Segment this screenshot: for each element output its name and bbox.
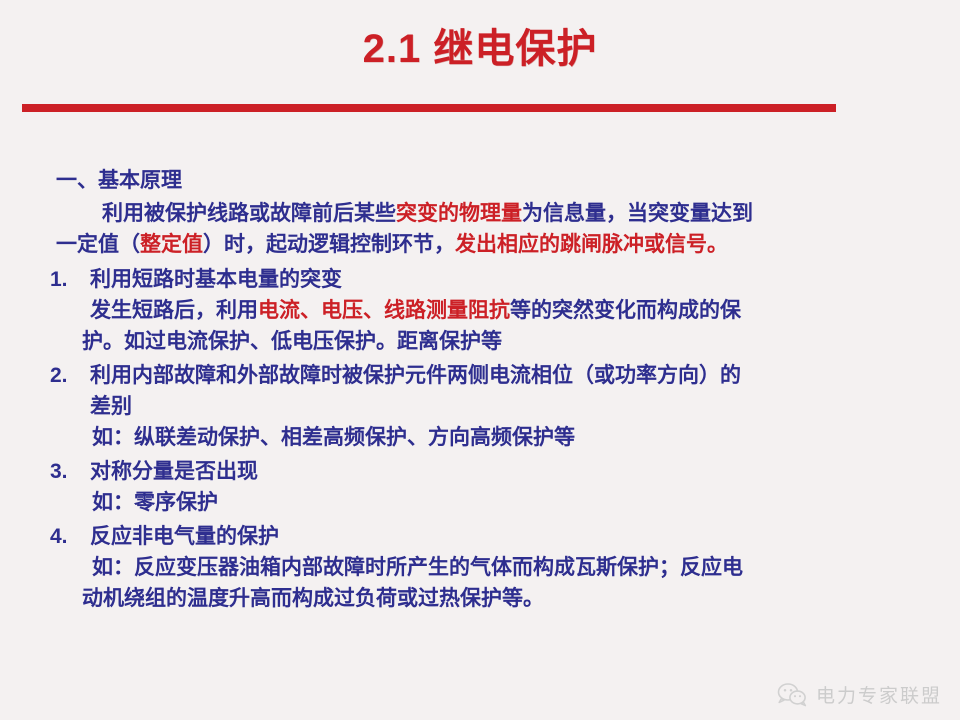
item1-detail-text-a: 发生短路后，利用 (90, 299, 258, 322)
item1-detail-highlight: 电流、电压、线路测量阻抗 (258, 299, 510, 322)
list-item-detail-line-2: 护。如过电流保护、低电压保护。距离保护等 (82, 326, 960, 357)
list-item-example-line-1: 如：反应变压器油箱内部故障时所产生的气体而构成瓦斯保护；反应电 (92, 552, 960, 583)
list-item-title: 利用短路时基本电量的突变 (90, 264, 960, 295)
list-item-title: 反应非电气量的保护 (90, 521, 960, 552)
page-title: 2.1 继电保护 (363, 24, 598, 74)
list-item-number: 3. (50, 456, 84, 487)
intro-line-2: 一定值（整定值）时，起动逻辑控制环节，发出相应的跳闸脉冲或信号。 (56, 229, 960, 260)
list-item-number: 2. (50, 360, 84, 391)
list-item: 2. 利用内部故障和外部故障时被保护元件两侧电流相位（或功率方向）的 差别 如：… (0, 360, 960, 453)
list-item-example: 如：纵联差动保护、相差高频保护、方向高频保护等 (92, 422, 960, 453)
intro-line2-text-b: ）时，起动逻辑控制环节， (203, 233, 455, 256)
list-item-example: 如：零序保护 (92, 487, 960, 518)
wechat-icon (777, 682, 807, 708)
intro-line2-highlight-2: 发出相应的跳闸脉冲或信号。 (455, 233, 728, 256)
slide-body: 一、基本原理 利用被保护线路或故障前后某些突变的物理量为信息量，当突变量达到 一… (0, 166, 960, 614)
list-item-example-line-2: 动机绕组的温度升高而构成过负荷或过热保护等。 (82, 583, 960, 614)
watermark: 电力专家联盟 (777, 681, 942, 708)
list-item-detail-line-1: 发生短路后，利用电流、电压、线路测量阻抗等的突然变化而构成的保 (90, 295, 960, 326)
intro-line1-highlight: 突变的物理量 (396, 202, 522, 225)
intro-line1-text-b: 为信息量，当突变量达到 (522, 202, 753, 225)
intro-line1-text-a: 利用被保护线路或故障前后某些 (102, 202, 396, 225)
list-item-title: 对称分量是否出现 (90, 456, 960, 487)
numbered-list: 1. 利用短路时基本电量的突变 发生短路后，利用电流、电压、线路测量阻抗等的突然… (0, 264, 960, 614)
section-heading: 一、基本原理 (56, 166, 960, 196)
list-item-title-line-2: 差别 (90, 391, 960, 422)
list-item: 1. 利用短路时基本电量的突变 发生短路后，利用电流、电压、线路测量阻抗等的突然… (0, 264, 960, 357)
list-item: 4. 反应非电气量的保护 如：反应变压器油箱内部故障时所产生的气体而构成瓦斯保护… (0, 521, 960, 614)
intro-line2-text-a: 一定值（ (56, 233, 140, 256)
slide-canvas: 2.1 继电保护 一、基本原理 利用被保护线路或故障前后某些突变的物理量为信息量… (0, 0, 960, 720)
list-item-title: 利用内部故障和外部故障时被保护元件两侧电流相位（或功率方向）的 (90, 360, 960, 391)
title-area: 2.1 继电保护 (0, 24, 960, 74)
item1-detail-text-b: 等的突然变化而构成的保 (510, 299, 741, 322)
watermark-label: 电力专家联盟 (816, 681, 942, 708)
intro-line2-highlight-1: 整定值 (140, 233, 203, 256)
title-divider-rule (22, 104, 836, 112)
intro-line-1: 利用被保护线路或故障前后某些突变的物理量为信息量，当突变量达到 (102, 198, 960, 229)
list-item-number: 4. (50, 521, 84, 552)
list-item-number: 1. (50, 264, 84, 295)
intro-paragraph: 利用被保护线路或故障前后某些突变的物理量为信息量，当突变量达到 一定值（整定值）… (56, 198, 960, 260)
list-item: 3. 对称分量是否出现 如：零序保护 (0, 456, 960, 518)
